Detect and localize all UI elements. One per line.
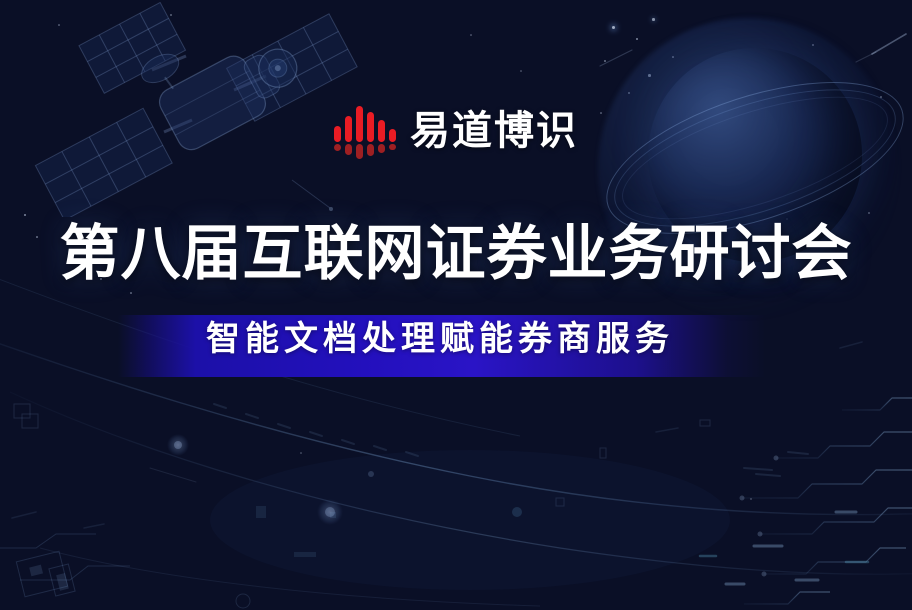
tech-arcs-and-circuits (0, 0, 912, 610)
brand-name: 易道博识 (410, 111, 578, 151)
brand-logo: 易道博识 (0, 100, 912, 162)
poster-title: 第八届互联网证券业务研讨会 (0, 222, 912, 287)
poster-canvas: 易道博识 第八届互联网证券业务研讨会 智能文档处理赋能券商服务 (0, 0, 912, 610)
poster-subtitle-text: 智能文档处理赋能券商服务 (206, 322, 674, 356)
waveform-logo-icon (334, 103, 396, 159)
poster-subtitle: 智能文档处理赋能券商服务 (0, 322, 912, 356)
